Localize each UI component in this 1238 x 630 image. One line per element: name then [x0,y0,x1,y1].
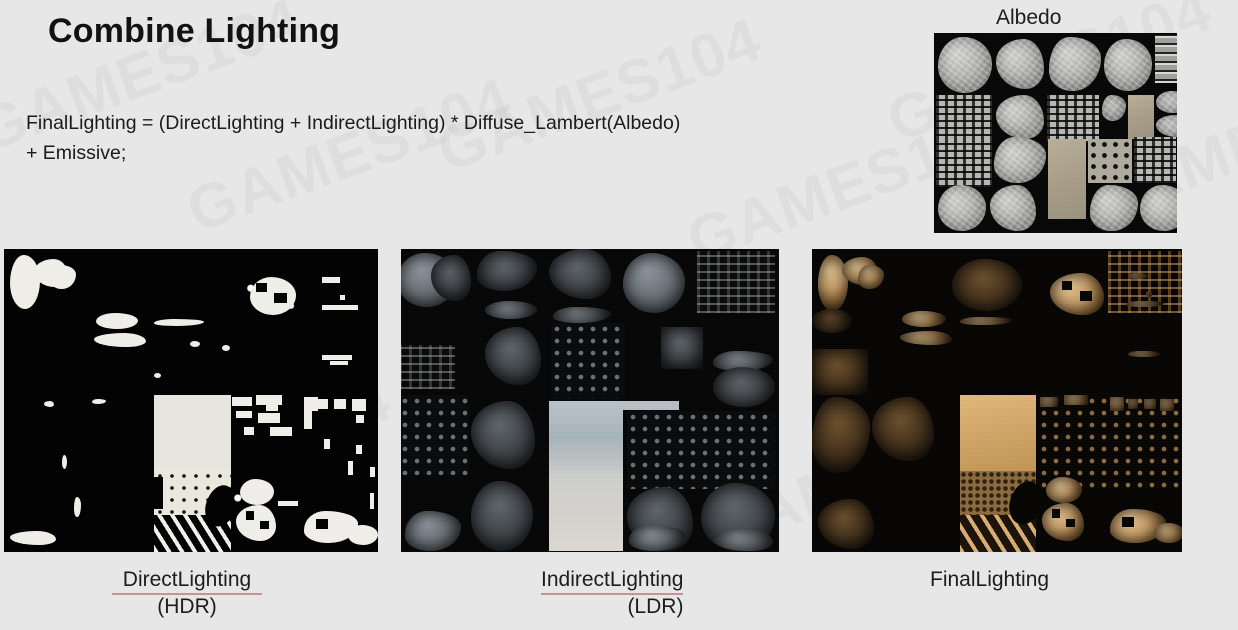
atlas-tile-rock [485,301,537,319]
highlight-strip [232,397,252,406]
indirect-lighting-atlas [401,249,779,552]
highlight-strip [322,277,340,283]
atlas-tile-strip [1064,395,1088,405]
highlight-strip [322,355,352,360]
direct-lighting-caption: DirectLighting (HDR) [112,568,262,619]
highlight-strip [324,439,330,449]
atlas-tile-rock [1156,91,1177,113]
atlas-tile-rock [996,39,1044,89]
highlight-blob [62,455,67,469]
shadow-notch [1066,519,1075,527]
atlas-tile-tech [1134,137,1176,183]
atlas-tile-tech [401,345,455,389]
page-title: Combine Lighting [48,12,340,51]
atlas-tile-sand [1128,95,1154,139]
atlas-tile-rock [938,37,992,93]
albedo-caption-label: Albedo [996,6,1061,30]
atlas-tile-dots [627,411,775,489]
final-lighting-image [812,249,1182,552]
atlas-tile-dots [551,323,625,399]
highlight-strip [356,445,362,454]
highlight-strip [278,501,298,506]
atlas-tile-rock [553,307,611,323]
highlight-strip [318,399,328,409]
atlas-tile-rock [902,311,946,327]
shadow-notch [260,521,269,529]
direct-lighting-image [4,249,378,552]
atlas-tile-sand [1048,139,1086,219]
shadow-notch [274,293,287,303]
albedo-caption: Albedo [996,6,1061,30]
atlas-tile-rock [1154,523,1182,543]
atlas-tile-rock [1140,185,1177,231]
shadow-notch [256,283,267,292]
atlas-tile-rock [1102,95,1126,121]
atlas-tile-rock [713,367,775,407]
shadow-notch [154,477,163,509]
highlight-strip [270,427,292,436]
atlas-tile-rock [812,309,852,333]
atlas-tile-strip [1144,399,1156,409]
indirect-lighting-caption: IndirectLighting (LDR) [541,568,683,619]
albedo-atlas [934,33,1177,233]
atlas-tile-rock [1156,115,1177,137]
atlas-tile-tech [697,251,775,313]
highlight-strip [352,399,366,411]
atlas-tile-rock [900,331,952,345]
highlight-strip [322,305,358,310]
final-lighting-caption: FinalLighting [930,568,1049,592]
indirect-lighting-image [401,249,779,552]
atlas-tile-rock [1104,39,1152,91]
highlight-dot [340,295,345,300]
atlas-tile-dots [401,395,469,475]
pale-quad [549,401,623,473]
highlight-strip [236,411,252,418]
highlight-strip [334,399,346,409]
shadow-notch [1052,509,1060,518]
highlight-strip [348,461,353,475]
highlight-strip [304,401,312,429]
atlas-tile-rock [1090,185,1138,231]
bright-quad [154,395,231,470]
atlas-tile-rock [938,185,986,231]
atlas-tile-rock [994,137,1046,183]
direct-lighting-caption-sublabel: (HDR) [112,595,262,619]
atlas-tile-rock [1046,477,1082,503]
slide-canvas: GAMES104 GAMES104 GAMES104 GAMES104 GAME… [0,0,1238,630]
atlas-tile-strip [1146,291,1152,297]
atlas-tile-rock [996,95,1044,139]
highlight-blob [10,531,56,545]
atlas-tile-tech [812,349,868,395]
highlight-blob [94,333,146,347]
highlight-blob [92,399,106,404]
atlas-tile-tech [936,141,992,187]
atlas-tile-strip [1160,399,1174,411]
atlas-tile-rock [1042,503,1084,541]
shadow-notch [246,511,254,520]
highlight-dot [222,345,230,351]
indirect-lighting-caption-label: IndirectLighting [541,568,683,595]
atlas-tile-rock [549,249,611,299]
atlas-tile-rock [661,327,703,369]
highlight-dot [154,373,161,378]
atlas-tile-rock [818,499,874,549]
atlas-tile-rock [471,481,533,551]
atlas-tile-strip [1155,35,1177,83]
highlight-strip [370,467,375,477]
highlight-strip [258,413,280,423]
highlight-blob [240,479,274,505]
atlas-tile-rock [812,397,870,473]
atlas-tile-strip [623,401,679,410]
highlight-dot [190,341,200,347]
atlas-tile-rock [858,265,884,289]
atlas-tile-strip [1128,399,1138,409]
atlas-tile-rock [623,253,685,313]
atlas-tile-rock [872,397,934,461]
atlas-tile-tech [936,95,992,143]
highlight-blob [44,401,54,407]
shadow-notch [316,519,328,529]
highlight-strip [370,493,374,509]
atlas-tile-tech [1047,95,1099,143]
atlas-tile-rock [990,185,1036,231]
sand-quad [960,395,1036,471]
shadow-notch [1062,281,1072,290]
highlight-strip [266,397,278,411]
highlight-strip [356,415,364,423]
final-lighting-caption-label: FinalLighting [930,568,1049,592]
highlight-strip [244,427,254,435]
pale-quad [549,473,623,551]
highlight-blob [74,497,81,517]
atlas-tile-rock [471,401,535,469]
shadow-notch [1080,291,1092,301]
atlas-tile-rock [1050,273,1104,315]
direct-lighting-atlas [4,249,378,552]
highlight-strip [330,361,348,365]
atlas-tile-rock [485,327,541,385]
highlight-blob [10,255,40,309]
highlight-blob [50,265,76,289]
final-lighting-atlas [812,249,1182,552]
atlas-tile-strip [1128,273,1148,279]
direct-lighting-caption-label: DirectLighting [112,568,262,595]
atlas-tile-dots [1088,139,1132,183]
highlight-blob [96,313,138,329]
atlas-tile-rock [477,251,537,291]
atlas-tile-strip [1128,351,1160,357]
highlight-blob [154,319,204,326]
atlas-tile-strip [1110,397,1124,411]
atlas-tile-rock [405,511,461,551]
atlas-tile-rock [960,317,1012,325]
indirect-lighting-caption-sublabel: (LDR) [541,595,683,619]
albedo-texture-atlas-image [934,33,1177,233]
atlas-tile-strip [1040,397,1058,407]
highlight-blob [348,525,378,545]
lighting-formula: FinalLighting = (DirectLighting + Indire… [26,108,680,168]
atlas-tile-rock [952,259,1022,311]
shadow-notch [1122,517,1134,527]
atlas-tile-rock [1049,37,1101,91]
